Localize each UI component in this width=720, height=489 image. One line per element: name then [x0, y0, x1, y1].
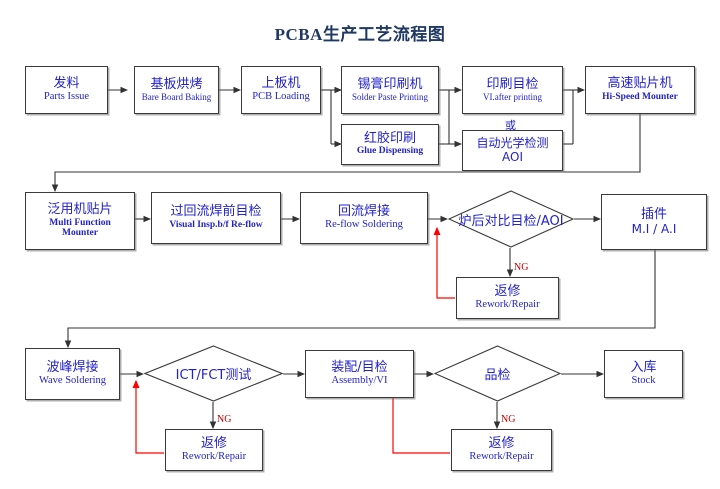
node-label-en: Multi Function	[49, 218, 111, 229]
node-label-en: Re-flow Soldering	[325, 219, 403, 231]
node-label-en: Bare Board Baking	[142, 92, 211, 102]
node-label-cn: 插件	[641, 208, 667, 223]
node-label-cn: ICT/FCT测试	[144, 345, 283, 402]
node-bare-board-baking[interactable]: 基板烘烤 Bare Board Baking	[134, 66, 219, 114]
node-label-cn: 炉后对比目检/AOI	[448, 190, 574, 248]
node-label-en: Assembly/VI	[332, 375, 388, 387]
node-label-cn: 红胶印刷	[364, 132, 416, 147]
node-label-en: VI.after printing	[483, 92, 542, 102]
node-wave-soldering[interactable]: 波峰焊接 Wave Soldering	[25, 348, 120, 400]
node-ict-fct-test[interactable]: ICT/FCT测试	[144, 345, 283, 402]
node-assembly-vi[interactable]: 装配/目检 Assembly/VI	[305, 350, 414, 398]
node-label-en: Solder Paste Printing	[352, 92, 428, 102]
node-label-cn: 返修	[201, 437, 227, 452]
node-post-oven-inspection-aoi[interactable]: 炉后对比目检/AOI	[448, 190, 574, 248]
node-vi-after-printing[interactable]: 印刷目检 VI.after printing	[462, 66, 563, 114]
node-quality-check[interactable]: 品检	[434, 345, 561, 402]
node-label-cn: 波峰焊接	[46, 361, 98, 376]
node-insert-mi-ai[interactable]: 插件 M.I / A.I	[601, 194, 707, 250]
node-label-en: Glue Dispensing	[357, 146, 423, 157]
ng-label-ict: NG	[217, 414, 231, 425]
flowchart-canvas: PCBA生产工艺流程图	[0, 0, 720, 489]
node-parts-issue[interactable]: 发料 Parts Issue	[25, 66, 108, 114]
node-label-cn: 入库	[630, 361, 656, 376]
node-hi-speed-mounter[interactable]: 高速贴片机 Hi-Speed Mounter	[585, 66, 695, 114]
node-label-en: Stock	[632, 375, 656, 387]
node-stock[interactable]: 入库 Stock	[604, 350, 683, 398]
node-solder-paste-printing[interactable]: 锡膏印刷机 Solder Paste Printing	[341, 66, 439, 114]
node-visual-insp-before-reflow[interactable]: 过回流焊前目检 Visual Insp.b/f Re-flow	[151, 192, 281, 244]
node-label-cn: 回流焊接	[338, 205, 390, 220]
node-label-cn: 发料	[53, 77, 79, 92]
node-label-cn: 品检	[434, 345, 561, 402]
node-glue-dispensing[interactable]: 红胶印刷 Glue Dispensing	[341, 124, 439, 165]
node-label-en: PCB Loading	[252, 91, 309, 103]
node-reflow-soldering[interactable]: 回流焊接 Re-flow Soldering	[300, 192, 428, 244]
node-label-en: Rework/Repair	[182, 451, 246, 463]
ng-label-qc: NG	[501, 414, 515, 425]
node-rework-after-ict[interactable]: 返修 Rework/Repair	[165, 429, 263, 471]
node-label-en: AOI	[502, 151, 523, 164]
node-label-en: Hi-Speed Mounter	[602, 92, 678, 103]
node-label-cn: 高速贴片机	[607, 77, 672, 92]
node-label-en: M.I / A.I	[632, 223, 677, 236]
node-label-cn: 上板机	[261, 77, 300, 92]
node-aoi[interactable]: 自动光学检测 AOI	[462, 130, 563, 171]
node-rework-after-qc[interactable]: 返修 Rework/Repair	[451, 429, 552, 471]
node-label-cn: 自动光学检测	[476, 137, 548, 150]
ng-label-post-oven: NG	[514, 262, 528, 273]
node-label-cn: 印刷目检	[486, 78, 538, 93]
node-label-en: Parts Issue	[44, 91, 89, 103]
node-label-cn: 返修	[488, 437, 514, 452]
node-multi-function-mounter[interactable]: 泛用机贴片 Multi Function Mounter	[25, 192, 135, 250]
node-label-en: Visual Insp.b/f Re-flow	[169, 220, 262, 231]
page-title: PCBA生产工艺流程图	[0, 20, 720, 45]
wire-insert-to-wave	[68, 250, 655, 347]
node-label-en-2: Mounter	[62, 228, 98, 239]
node-label-cn: 泛用机贴片	[47, 203, 112, 218]
node-label-en: Rework/Repair	[475, 299, 539, 311]
node-label-cn: 基板烘烤	[150, 78, 202, 93]
node-label-cn: 过回流焊前目检	[170, 205, 261, 220]
node-label-cn: 返修	[494, 285, 520, 300]
node-label-en: Wave Soldering	[39, 375, 106, 387]
node-rework-after-reflow[interactable]: 返修 Rework/Repair	[456, 277, 559, 319]
node-label-cn: 锡膏印刷机	[357, 78, 422, 93]
node-pcb-loading[interactable]: 上板机 PCB Loading	[241, 66, 321, 114]
node-label-en: Rework/Repair	[469, 451, 533, 463]
node-label-cn: 装配/目检	[331, 361, 387, 376]
